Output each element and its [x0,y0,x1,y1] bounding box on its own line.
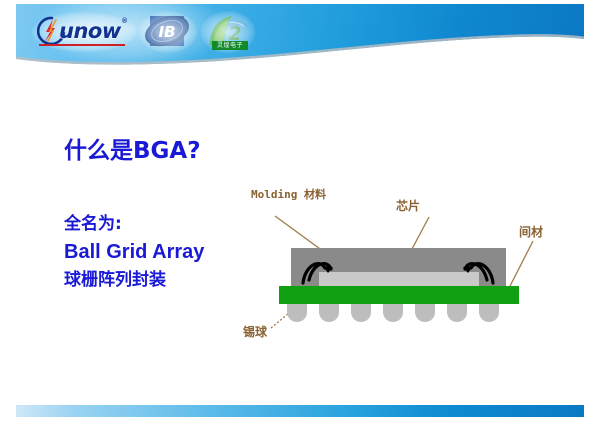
leader-line-interposer [508,241,533,290]
unow-registered-mark: ® [122,18,127,25]
unow-wordmark: unow [59,19,121,43]
ib-logo: IB [142,13,194,51]
diagram-label-molding: Molding 材料 [251,186,326,202]
logo-group: unow ® IB 2 灵煌电子 [36,12,252,52]
full-name-english: Ball Grid Array [64,237,204,267]
unow-logo: unow ® [36,14,132,50]
slide: unow ® IB 2 灵煌电子 [0,0,600,424]
full-name-chinese: 球栅阵列封装 [64,267,204,293]
definition-block: 全名为: Ball Grid Array 球栅阵列封装 [64,211,204,293]
solder-ball [479,304,499,322]
unow-underline [39,44,125,46]
solder-ball [287,304,307,322]
page-title: 什么是BGA? [64,131,201,165]
green-leaf-logo-caption: 灵煌电子 [212,41,248,50]
diagram-label-solder-ball: 锡球 [243,323,267,340]
solder-ball [319,304,339,322]
bga-cross-section-diagram: Molding 材料 芯片 间材 锡球 [243,186,573,346]
pcb-substrate [279,286,519,304]
silicon-die [319,272,479,288]
full-name-label: 全名为: [64,211,204,237]
diagram-label-interposer: 间材 [519,223,543,240]
solder-ball-row [287,304,499,322]
footer-accent-bar [16,405,584,417]
solder-ball [415,304,435,322]
green-leaf-logo: 2 灵煌电子 [204,13,252,51]
solder-ball [351,304,371,322]
solder-ball [447,304,467,322]
solder-ball [383,304,403,322]
diagram-label-die: 芯片 [396,197,420,214]
ib-logo-glow [139,11,197,53]
